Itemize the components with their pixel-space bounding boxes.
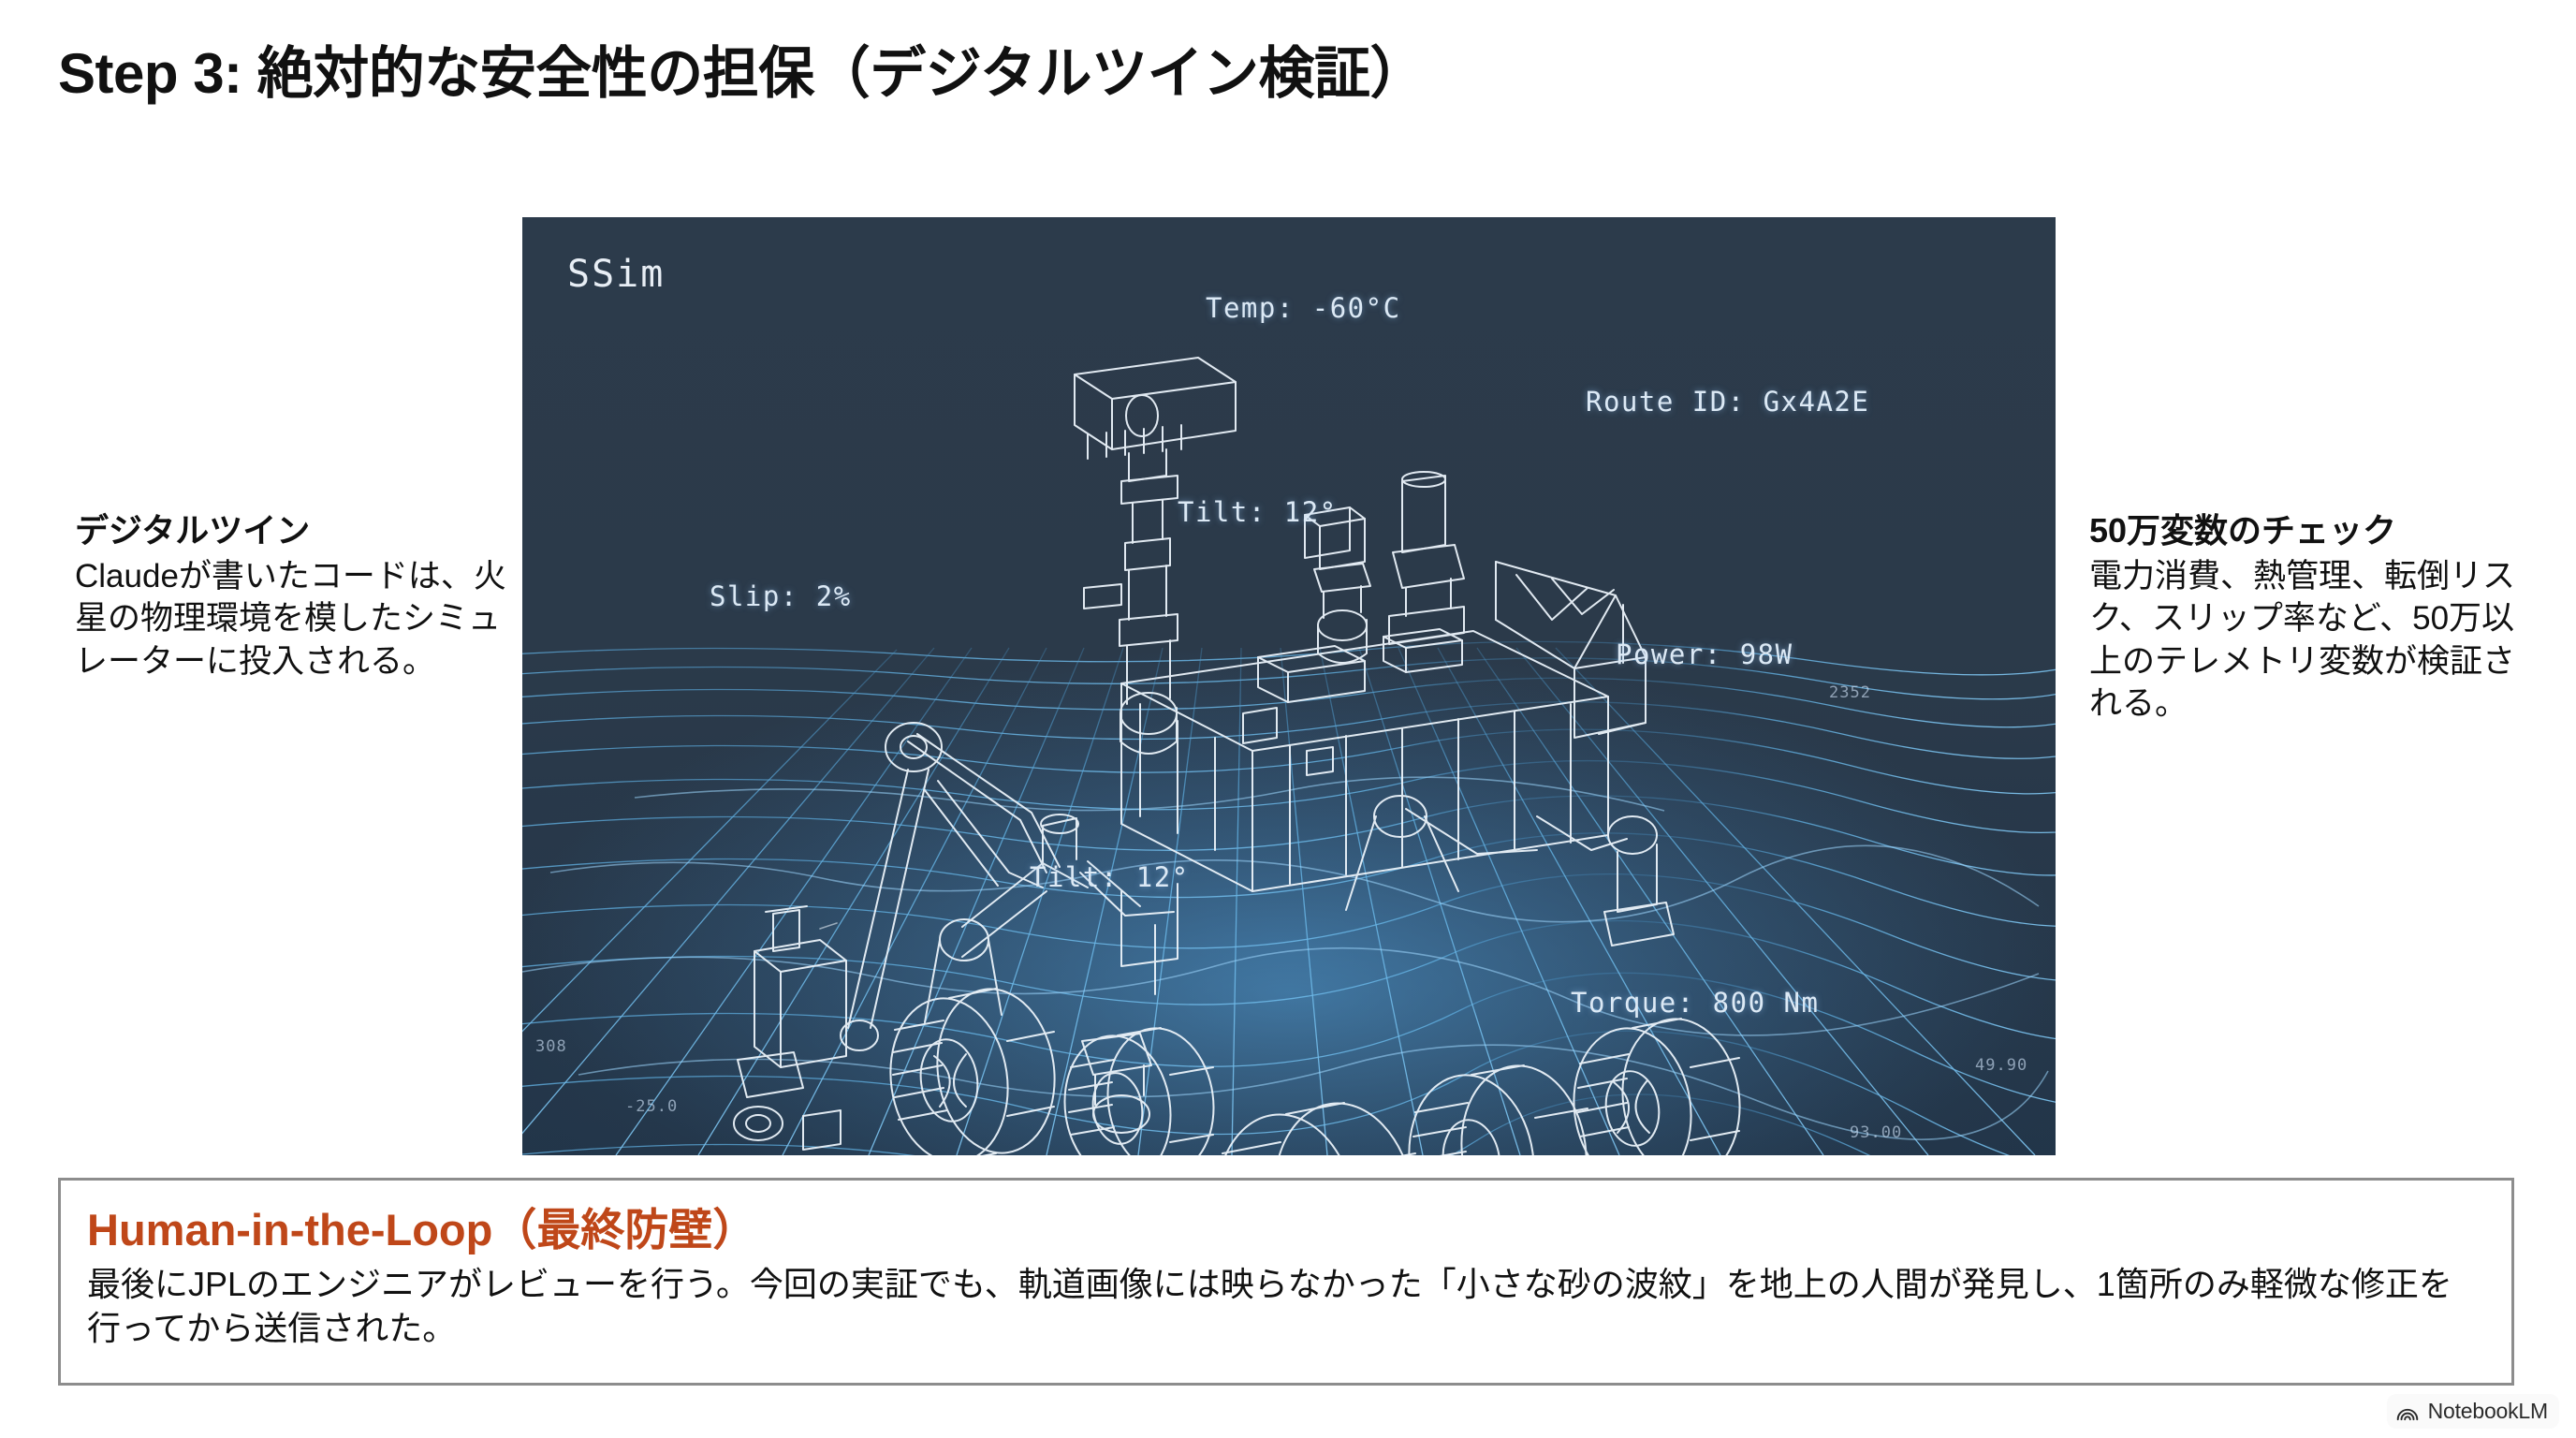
axis-tick-c: 2352 xyxy=(1829,683,1871,702)
callout-heading: Human-in-the-Loop（最終防壁） xyxy=(87,1194,756,1258)
telemetry-slip: Slip: 2% xyxy=(710,580,852,612)
slide-root: Step 3: 絶対的な安全性の担保（デジタルツイン検証） デジタルツイン Cl… xyxy=(0,0,2576,1438)
notebooklm-spiral-icon xyxy=(2395,1400,2420,1424)
left-text-column: デジタルツイン Claudeが書いたコードは、火星の物理環境を模したシミュレータ… xyxy=(75,510,515,682)
axis-tick-b: -25.0 xyxy=(625,1097,678,1116)
notebooklm-label: NotebookLM xyxy=(2428,1399,2548,1424)
telemetry-tilt-top: Tilt: 12° xyxy=(1178,496,1338,528)
axis-tick-a: 308 xyxy=(535,1037,567,1056)
sim-app-label: SSim xyxy=(567,253,665,296)
terrain-mesh-graphic xyxy=(522,217,2056,1155)
right-column-body: 電力消費、熱管理、転倒リスク、スリップ率など、50万以上のテレメトリ変数が検証さ… xyxy=(2089,555,2529,726)
human-in-the-loop-callout: Human-in-the-Loop（最終防壁） 最後にJPLのエンジニアがレビュ… xyxy=(58,1178,2514,1386)
telemetry-temp: Temp: -60°C xyxy=(1206,292,1401,324)
page-title: Step 3: 絶対的な安全性の担保（デジタルツイン検証） xyxy=(58,28,1426,110)
notebooklm-watermark: NotebookLM xyxy=(2387,1394,2559,1429)
left-column-heading: デジタルツイン xyxy=(75,510,515,551)
right-column-heading: 50万変数のチェック xyxy=(2089,510,2529,551)
axis-tick-e: 93.00 xyxy=(1850,1123,1902,1142)
telemetry-power: Power: 98W xyxy=(1616,638,1793,670)
right-text-column: 50万変数のチェック 電力消費、熱管理、転倒リスク、スリップ率など、50万以上の… xyxy=(2089,510,2529,726)
callout-body: 最後にJPLのエンジニアがレビューを行う。今回の実証でも、軌道画像には映らなかっ… xyxy=(87,1263,2483,1351)
simulation-panel: SSim Temp: -60°C Route ID: Gx4A2E Tilt: … xyxy=(522,217,2056,1155)
telemetry-torque: Torque: 800 Nm xyxy=(1571,987,1819,1019)
telemetry-tilt-lower: Tilt: 12° xyxy=(1030,861,1190,893)
left-column-body: Claudeが書いたコードは、火星の物理環境を模したシミュレーターに投入される。 xyxy=(75,555,515,683)
telemetry-route-id: Route ID: Gx4A2E xyxy=(1586,386,1869,418)
axis-tick-d: 49.90 xyxy=(1975,1056,2027,1075)
